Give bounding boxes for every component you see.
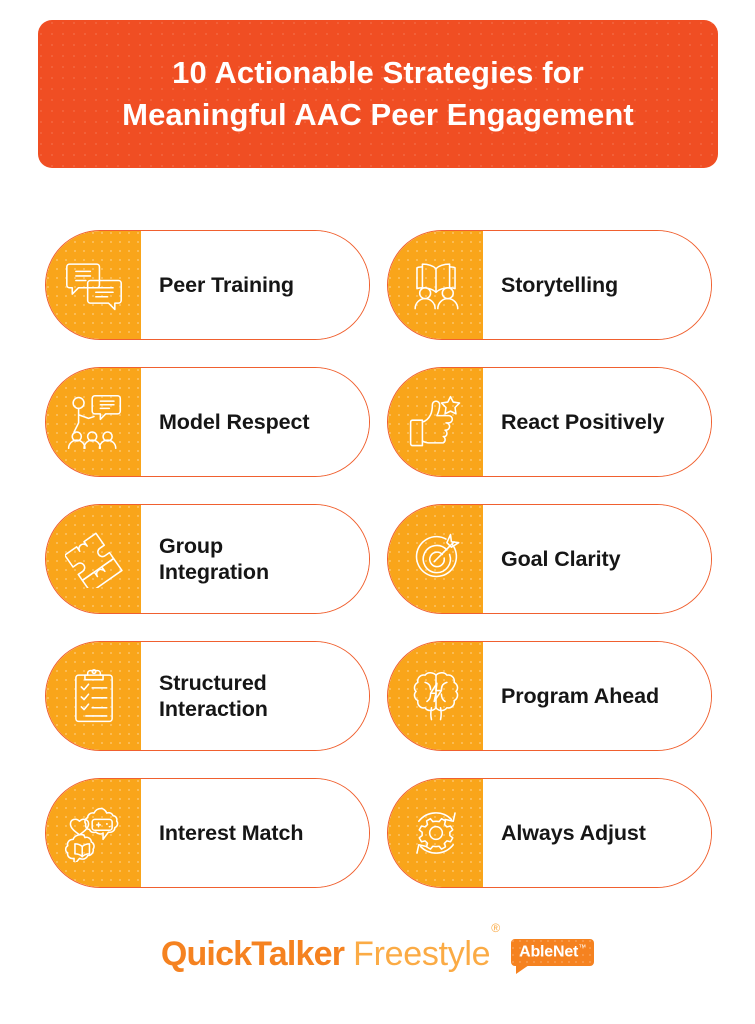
label-area: Program Ahead [483,642,711,750]
strategy-label: Interest Match [159,820,303,846]
label-area: Always Adjust [483,779,711,887]
label-area: Structured Interaction [141,642,369,750]
page-title-line-1: 10 Actionable Strategies for [122,52,634,94]
strategy-label: Goal Clarity [501,546,620,572]
strategy-label: Always Adjust [501,820,646,846]
page-title-line-2: Meaningful AAC Peer Engagement [122,94,634,136]
brand-name-secondary: Freestyle [353,935,490,974]
strategy-label: Model Respect [159,409,309,435]
icon-panel [46,231,141,339]
strategy-label: Group Integration [159,533,269,585]
icon-panel [388,779,483,887]
target-arrow-icon [407,530,465,588]
strategy-label: Program Ahead [501,683,659,709]
label-area: React Positively [483,368,711,476]
icon-panel [388,368,483,476]
strategy-card-interest-match[interactable]: Interest Match [45,778,370,888]
icon-panel [388,642,483,750]
open-book-readers-icon [407,256,465,314]
clipboard-checklist-icon [65,667,123,725]
strategy-card-always-adjust[interactable]: Always Adjust [387,778,712,888]
strategy-card-structured-interaction[interactable]: Structured Interaction [45,641,370,751]
label-area: Group Integration [141,505,369,613]
strategy-card-group-integration[interactable]: Group Integration [45,504,370,614]
ablenet-badge: AbleNet™ [511,939,594,965]
infographic-page: 10 Actionable Strategies for Meaningful … [0,0,755,1024]
brain-bolt-icon [407,667,465,725]
heart-gamepad-book-bubbles-icon [65,804,123,862]
brand-name-primary: QuickTalker [161,935,344,974]
strategy-label: Structured Interaction [159,670,268,722]
strategy-card-storytelling[interactable]: Storytelling [387,230,712,340]
label-area: Interest Match [141,779,369,887]
presenter-audience-icon [65,393,123,451]
strategy-label: React Positively [501,409,664,435]
speech-bubbles-icon [65,256,123,314]
icon-panel [46,779,141,887]
quicktalker-freestyle-logo: QuickTalker Freestyle ® AbleNet™ [161,935,594,974]
icon-panel [388,505,483,613]
ablenet-trademark-symbol: ™ [578,943,586,952]
label-area: Goal Clarity [483,505,711,613]
strategy-card-grid: Peer Training Storytelling [45,230,712,888]
icon-panel [388,231,483,339]
ablenet-badge-label: AbleNet [519,944,578,961]
label-area: Model Respect [141,368,369,476]
strategy-card-peer-training[interactable]: Peer Training [45,230,370,340]
registered-trademark-symbol: ® [491,921,500,935]
header-banner: 10 Actionable Strategies for Meaningful … [38,20,718,168]
strategy-card-model-respect[interactable]: Model Respect [45,367,370,477]
page-title: 10 Actionable Strategies for Meaningful … [122,52,634,136]
strategy-card-program-ahead[interactable]: Program Ahead [387,641,712,751]
strategy-card-goal-clarity[interactable]: Goal Clarity [387,504,712,614]
strategy-label: Storytelling [501,272,618,298]
gear-refresh-icon [407,804,465,862]
footer-branding: QuickTalker Freestyle ® AbleNet™ [0,935,755,974]
icon-panel [46,368,141,476]
label-area: Storytelling [483,231,711,339]
puzzle-pieces-icon [65,530,123,588]
icon-panel [46,642,141,750]
strategy-card-react-positively[interactable]: React Positively [387,367,712,477]
icon-panel [46,505,141,613]
label-area: Peer Training [141,231,369,339]
strategy-label: Peer Training [159,272,294,298]
thumbs-up-star-icon [407,393,465,451]
